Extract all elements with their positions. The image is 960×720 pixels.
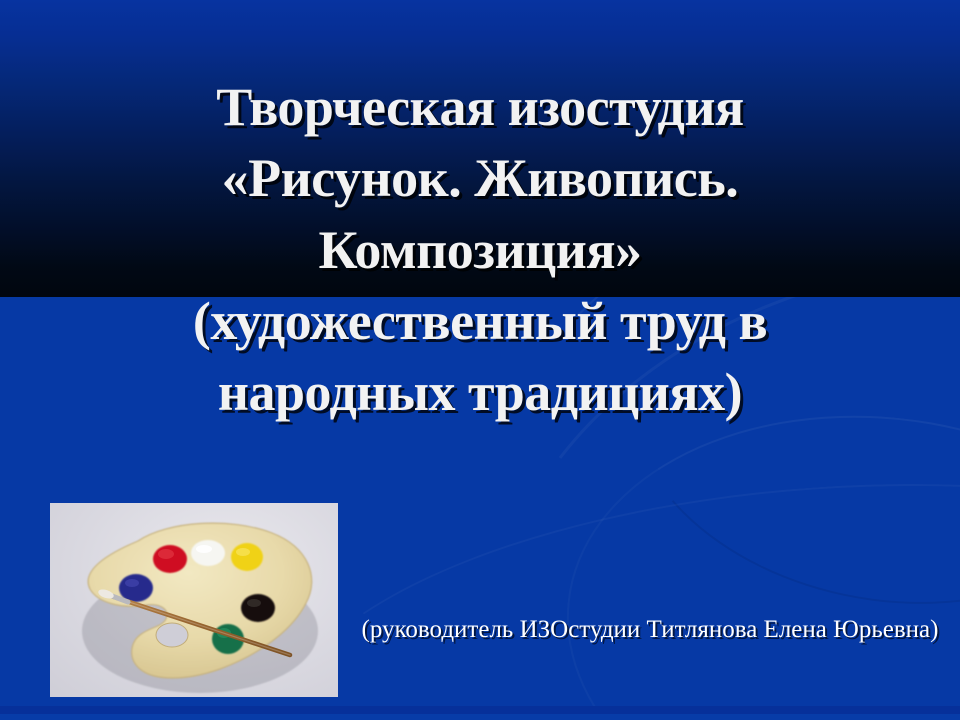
palette-illustration xyxy=(50,503,338,697)
paint-blob-white xyxy=(191,540,225,566)
artist-palette-photo xyxy=(50,503,338,697)
decorative-swoosh-4 xyxy=(263,449,960,720)
author-caption: (руководитель ИЗОстудии Титлянова Елена … xyxy=(345,614,955,647)
presentation-slide: Творческая изостудия «Рисунок. Живопись.… xyxy=(0,0,960,720)
paint-blob-black xyxy=(241,594,275,622)
paint-blob-blue xyxy=(119,574,153,602)
decorative-swoosh-3 xyxy=(545,386,960,720)
background-bottom-band-edge xyxy=(0,714,960,720)
paint-blob-yellow xyxy=(231,543,263,571)
slide-title: Творческая изостудия «Рисунок. Живопись.… xyxy=(30,72,930,428)
paint-blob-red xyxy=(153,545,187,573)
